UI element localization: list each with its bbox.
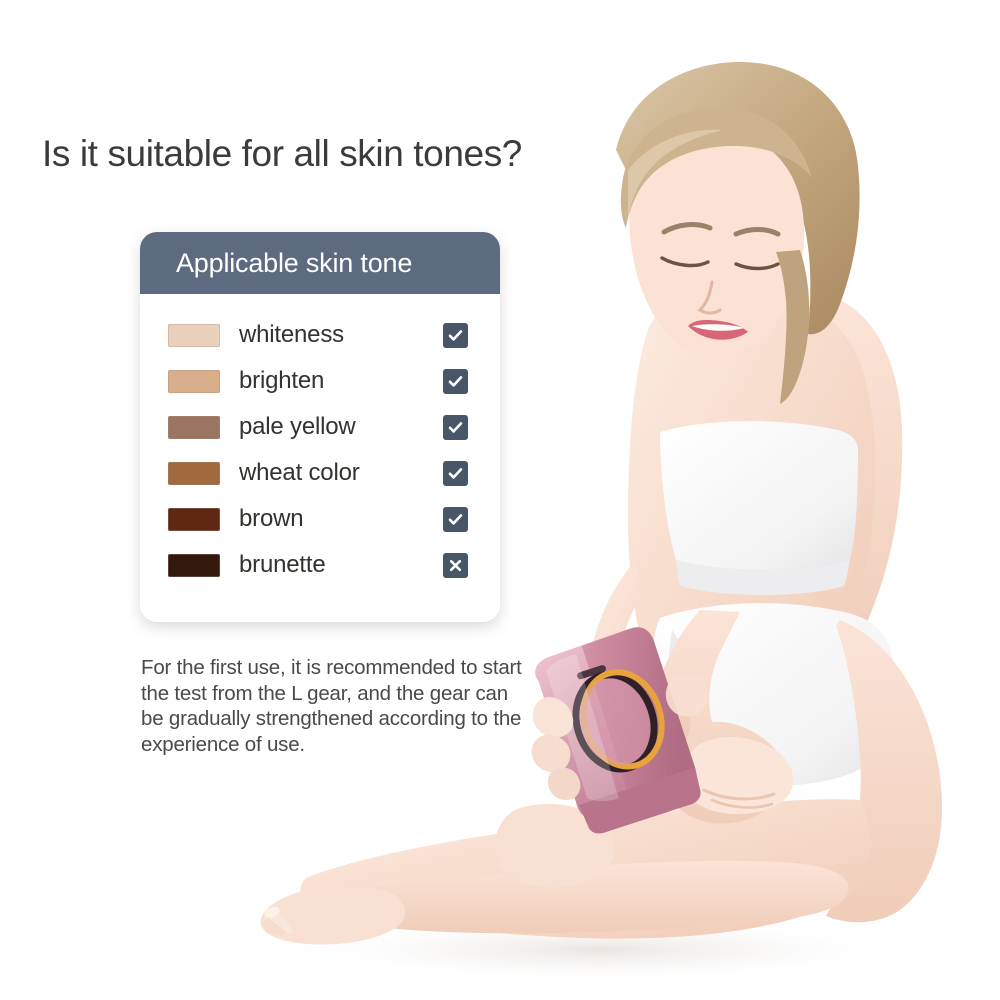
list-item[interactable]: pale yellow	[168, 404, 474, 450]
skin-swatch-wheat-color	[168, 462, 220, 485]
applicable-skin-tone-card: Applicable skin tone whiteness brighten …	[140, 232, 500, 622]
card-header: Applicable skin tone	[140, 232, 500, 294]
list-item[interactable]: brighten	[168, 358, 474, 404]
skin-tone-label: whiteness	[239, 321, 443, 349]
skin-swatch-brown	[168, 508, 220, 531]
skin-tone-label: brunette	[239, 551, 443, 579]
skin-tone-label: pale yellow	[239, 413, 443, 441]
cross-icon[interactable]	[443, 553, 468, 578]
list-item[interactable]: brown	[168, 496, 474, 542]
product-infographic: Is it suitable for all skin tones? Appli…	[0, 0, 1000, 1000]
check-icon[interactable]	[443, 507, 468, 532]
skin-swatch-brighten	[168, 370, 220, 393]
usage-note: For the first use, it is recommended to …	[141, 655, 529, 757]
skin-tone-list: whiteness brighten pale yellow	[140, 294, 500, 622]
skin-swatch-pale-yellow	[168, 416, 220, 439]
skin-tone-label: brighten	[239, 367, 443, 395]
skin-tone-label: brown	[239, 505, 443, 533]
check-icon[interactable]	[443, 323, 468, 348]
check-icon[interactable]	[443, 461, 468, 486]
skin-swatch-whiteness	[168, 324, 220, 347]
list-item[interactable]: wheat color	[168, 450, 474, 496]
check-icon[interactable]	[443, 369, 468, 394]
card-header-title: Applicable skin tone	[176, 248, 412, 279]
list-item[interactable]: whiteness	[168, 312, 474, 358]
check-icon[interactable]	[443, 415, 468, 440]
list-item[interactable]: brunette	[168, 542, 474, 588]
skin-swatch-brunette	[168, 554, 220, 577]
skin-tone-label: wheat color	[239, 459, 443, 487]
page-title: Is it suitable for all skin tones?	[42, 133, 522, 175]
